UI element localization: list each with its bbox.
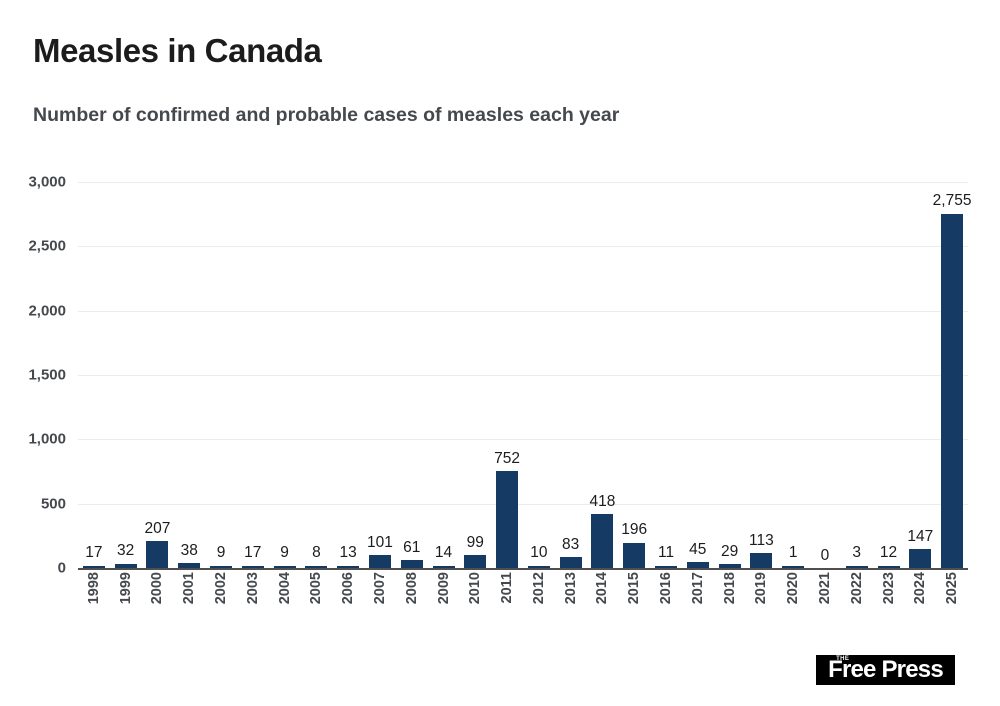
x-axis-label-slot: 2021	[809, 572, 841, 628]
bar-value-label: 61	[403, 540, 420, 556]
bar-value-label: 14	[435, 545, 452, 561]
bar-slot[interactable]: 0	[809, 182, 841, 568]
x-axis-tick-label: 2022	[849, 572, 865, 604]
x-axis-tick-label: 2003	[245, 572, 261, 604]
bar[interactable]	[146, 541, 168, 568]
bar-value-label: 8	[312, 545, 321, 561]
x-axis-labels: 1998199920002001200220032004200520062007…	[78, 572, 968, 632]
bar[interactable]	[623, 543, 645, 568]
plot-area: 05001,0001,5002,0002,5003,000 1732207389…	[78, 182, 968, 568]
y-axis-tick-label: 500	[41, 495, 66, 512]
bar-value-label: 196	[621, 522, 647, 538]
x-axis-label-slot: 2011	[491, 572, 523, 628]
logo-inner: THE Free Press	[824, 657, 947, 683]
bar-value-label: 99	[467, 535, 484, 551]
x-axis-tick-label: 2019	[753, 572, 769, 604]
x-axis-tick-label: 2024	[912, 572, 928, 604]
bar-slot[interactable]: 14	[428, 182, 460, 568]
y-axis-tick-label: 2,500	[28, 238, 66, 255]
bar-value-label: 32	[117, 543, 134, 559]
x-axis-label-slot: 2025	[936, 572, 968, 628]
y-axis-tick-label: 1,000	[28, 431, 66, 448]
x-axis-label-slot: 2002	[205, 572, 237, 628]
x-axis-label-slot: 2019	[746, 572, 778, 628]
bar-series: 1732207389179813101611499752108341819611…	[78, 182, 968, 568]
y-axis-tick-label: 2,000	[28, 302, 66, 319]
bar-value-label: 9	[280, 545, 289, 561]
x-axis-label-slot: 2015	[618, 572, 650, 628]
x-axis-label-slot: 2000	[142, 572, 174, 628]
bar[interactable]	[909, 549, 931, 568]
bar-slot[interactable]: 752	[491, 182, 523, 568]
bar-value-label: 101	[367, 535, 393, 551]
bar-slot[interactable]: 113	[746, 182, 778, 568]
x-axis-label-slot: 2008	[396, 572, 428, 628]
bar-slot[interactable]: 13	[332, 182, 364, 568]
bar-slot[interactable]: 99	[459, 182, 491, 568]
bar[interactable]	[464, 555, 486, 568]
bar-slot[interactable]: 1	[777, 182, 809, 568]
x-axis-tick-label: 2009	[436, 572, 452, 604]
bar-slot[interactable]: 17	[237, 182, 269, 568]
bar-slot[interactable]: 29	[714, 182, 746, 568]
bar-value-label: 17	[244, 545, 261, 561]
bar[interactable]	[591, 514, 613, 568]
bar-slot[interactable]: 12	[873, 182, 905, 568]
x-axis-label-slot: 2020	[777, 572, 809, 628]
bar-value-label: 418	[590, 494, 616, 510]
bar-slot[interactable]: 32	[110, 182, 142, 568]
x-axis-tick-label: 2013	[563, 572, 579, 604]
bar[interactable]	[941, 214, 963, 568]
x-axis-tick-label: 2011	[499, 572, 515, 603]
x-axis-tick-label: 2004	[277, 572, 293, 604]
bar-value-label: 207	[145, 521, 171, 537]
x-axis-tick-label: 2000	[149, 572, 165, 604]
x-axis-label-slot: 2024	[904, 572, 936, 628]
x-axis-label-slot: 2018	[714, 572, 746, 628]
logo-the-text: THE	[836, 656, 849, 662]
bar-value-label: 38	[181, 543, 198, 559]
x-axis-tick-label: 2012	[531, 572, 547, 604]
bar-value-label: 11	[658, 545, 674, 561]
x-axis-baseline	[78, 568, 968, 570]
bar-slot[interactable]: 9	[269, 182, 301, 568]
bar-slot[interactable]: 2,755	[936, 182, 968, 568]
free-press-logo: THE Free Press	[816, 655, 955, 685]
x-axis-label-slot: 2004	[269, 572, 301, 628]
bar-value-label: 29	[721, 544, 738, 560]
x-axis-label-slot: 2003	[237, 572, 269, 628]
bar-value-label: 752	[494, 451, 520, 467]
x-axis-label-slot: 2016	[650, 572, 682, 628]
x-axis-label-slot: 2010	[459, 572, 491, 628]
x-axis-label-slot: 2013	[555, 572, 587, 628]
bar[interactable]	[496, 471, 518, 568]
x-axis-tick-label: 2010	[467, 572, 483, 604]
bar-value-label: 83	[562, 537, 579, 553]
bar-slot[interactable]: 207	[142, 182, 174, 568]
x-axis-label-slot: 2017	[682, 572, 714, 628]
bar-slot[interactable]: 8	[301, 182, 333, 568]
bar[interactable]	[369, 555, 391, 568]
bar-value-label: 12	[880, 545, 897, 561]
x-axis-label-slot: 2007	[364, 572, 396, 628]
x-axis-tick-label: 2016	[658, 572, 674, 604]
x-axis-label-slot: 2023	[873, 572, 905, 628]
chart-page: Measles in Canada Number of confirmed an…	[0, 0, 1000, 706]
bar[interactable]	[401, 560, 423, 568]
x-axis-label-slot: 2001	[173, 572, 205, 628]
x-axis-tick-label: 2006	[340, 572, 356, 604]
x-axis-label-slot: 2005	[301, 572, 333, 628]
x-axis-label-slot: 1999	[110, 572, 142, 628]
bar-slot[interactable]: 196	[618, 182, 650, 568]
chart-subtitle: Number of confirmed and probable cases o…	[33, 104, 619, 127]
bar-value-label: 147	[907, 529, 933, 545]
x-axis-tick-label: 1998	[86, 572, 102, 604]
bar-value-label: 10	[530, 545, 547, 561]
bar-slot[interactable]: 17	[78, 182, 110, 568]
bar[interactable]	[560, 557, 582, 568]
bar-slot[interactable]: 83	[555, 182, 587, 568]
x-axis-tick-label: 2008	[404, 572, 420, 604]
bar-value-label: 17	[85, 545, 102, 561]
x-axis-tick-label: 2018	[722, 572, 738, 604]
bar-slot[interactable]: 3	[841, 182, 873, 568]
bar-slot[interactable]: 38	[173, 182, 205, 568]
bar-value-label: 113	[749, 533, 774, 549]
x-axis-tick-label: 2021	[817, 572, 833, 604]
bar-slot[interactable]: 45	[682, 182, 714, 568]
x-axis-tick-label: 2020	[785, 572, 801, 604]
bar-value-label: 45	[689, 542, 706, 558]
bar-slot[interactable]: 147	[904, 182, 936, 568]
bar-value-label: 9	[217, 545, 226, 561]
x-axis-tick-label: 2017	[690, 572, 706, 604]
x-axis-label-slot: 2012	[523, 572, 555, 628]
y-axis-tick-label: 3,000	[28, 174, 66, 191]
bar-value-label: 3	[852, 545, 861, 561]
x-axis-tick-label: 2014	[594, 572, 610, 604]
x-axis-tick-label: 2023	[881, 572, 897, 604]
bar[interactable]	[750, 553, 772, 568]
bar-value-label: 13	[340, 545, 357, 561]
bar-slot[interactable]: 101	[364, 182, 396, 568]
x-axis-label-slot: 2014	[587, 572, 619, 628]
bar-slot[interactable]: 10	[523, 182, 555, 568]
bar-slot[interactable]: 11	[650, 182, 682, 568]
x-axis-tick-label: 2001	[181, 572, 197, 604]
bar-slot[interactable]: 9	[205, 182, 237, 568]
y-axis-tick-label: 1,500	[28, 367, 66, 384]
bar-value-label: 1	[789, 545, 798, 561]
y-axis-tick-label: 0	[58, 560, 66, 577]
x-axis-tick-label: 2002	[213, 572, 229, 604]
x-axis-label-slot: 2006	[332, 572, 364, 628]
chart-title: Measles in Canada	[33, 33, 322, 69]
bar-value-label: 0	[821, 548, 830, 564]
x-axis-label-slot: 2022	[841, 572, 873, 628]
x-axis-tick-label: 2015	[626, 572, 642, 604]
bar-value-label: 2,755	[933, 193, 972, 209]
x-axis-tick-label: 2007	[372, 572, 388, 604]
x-axis-tick-label: 2005	[308, 572, 324, 604]
x-axis-tick-label: 2025	[944, 572, 960, 604]
x-axis-label-slot: 2009	[428, 572, 460, 628]
bar-slot[interactable]: 61	[396, 182, 428, 568]
bar-slot[interactable]: 418	[587, 182, 619, 568]
x-axis-tick-label: 1999	[118, 572, 134, 604]
x-axis-label-slot: 1998	[78, 572, 110, 628]
